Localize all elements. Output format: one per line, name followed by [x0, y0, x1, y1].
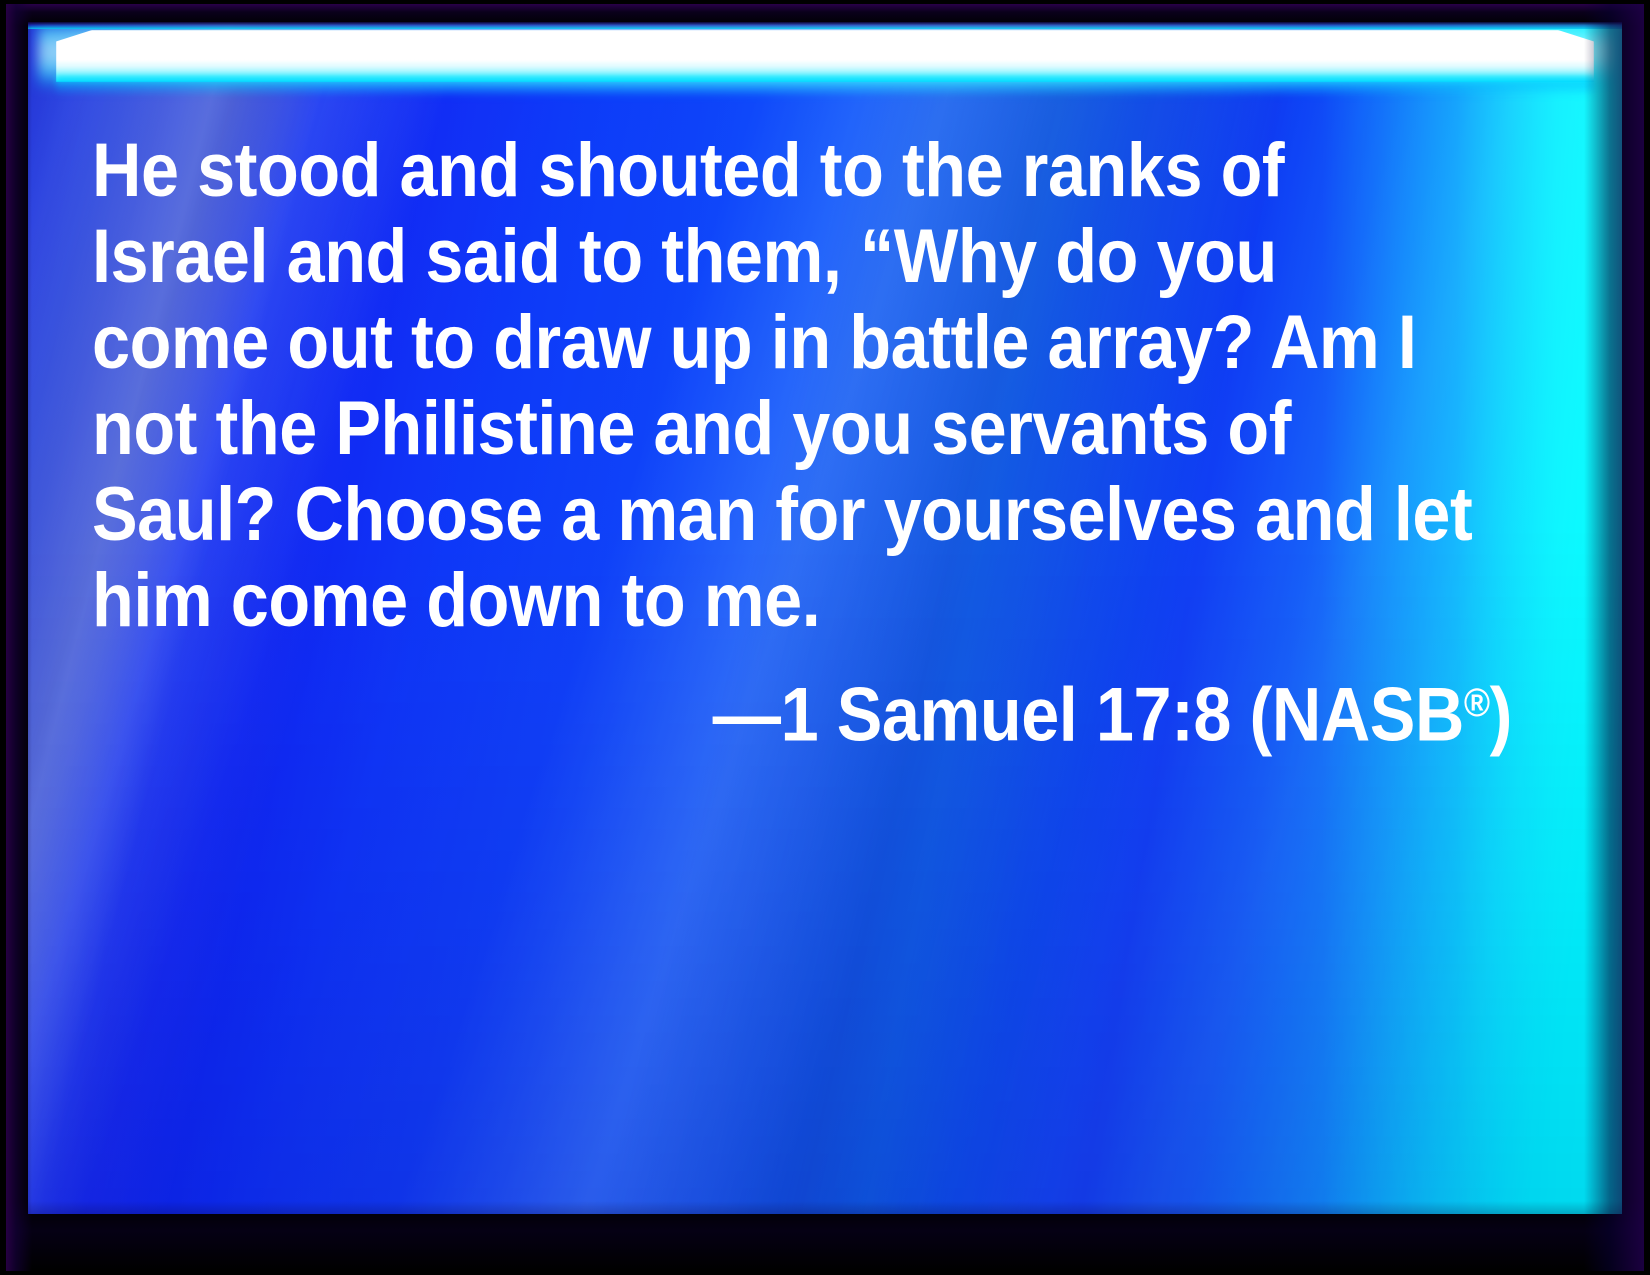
banner-core [56, 30, 1594, 82]
top-glow-banner [28, 22, 1622, 96]
registered-trademark-icon: ® [1464, 681, 1490, 725]
reference-closing-paren: ) [1490, 673, 1512, 758]
reference-em-dash: — [713, 673, 781, 758]
verse-line: him come down to me. [92, 558, 1370, 644]
verse-line: not the Philistine and you servants of [92, 386, 1370, 472]
slide-canvas: He stood and shouted to the ranks of Isr… [28, 22, 1622, 1214]
verse-text-block: He stood and shouted to the ranks of Isr… [92, 128, 1512, 759]
verse-line: come out to draw up in battle array? Am … [92, 300, 1370, 386]
verse-line: Israel and said to them, “Why do you [92, 214, 1370, 300]
verse-reference: —1 Samuel 17:8 (NASB®) [234, 660, 1512, 759]
slide-frame: He stood and shouted to the ranks of Isr… [0, 0, 1650, 1275]
verse-line: Saul? Choose a man for yourselves and le… [92, 472, 1370, 558]
banner-top-edge [28, 22, 1622, 29]
reference-citation: 1 Samuel 17:8 (NASB [781, 673, 1464, 758]
banner-underglow [56, 76, 1594, 96]
verse-line: He stood and shouted to the ranks of [92, 128, 1370, 214]
